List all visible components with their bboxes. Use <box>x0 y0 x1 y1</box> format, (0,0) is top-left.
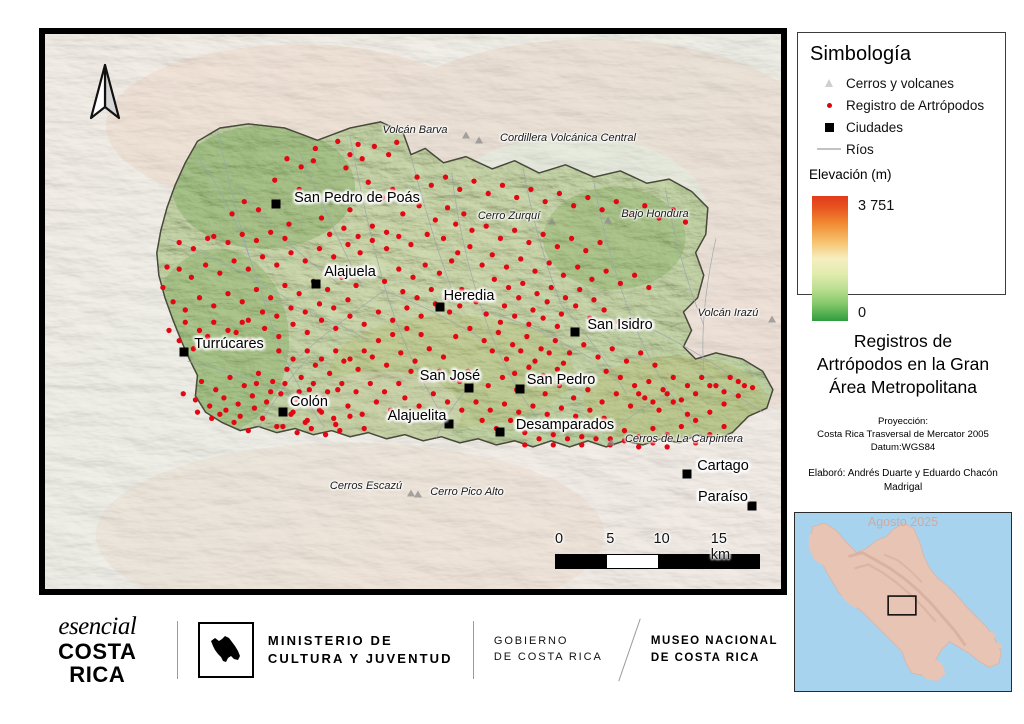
legend-item-label: Cerros y volcanes <box>846 76 954 91</box>
map-title: Registros de Artrópodos en la Gran Área … <box>792 330 1014 398</box>
logo-divider <box>473 621 474 679</box>
legend-item-cerros: Cerros y volcanes <box>812 72 995 94</box>
legend-item-label: Registro de Artrópodos <box>846 98 984 113</box>
legend-title: Simbología <box>810 43 995 66</box>
logo-slash-divider <box>603 617 651 683</box>
author-credit: Elaboró: Andrés Duarte y Eduardo Chacón … <box>792 467 1014 494</box>
esencial-rica-text: RICA <box>38 664 157 687</box>
peak-triangle-icon <box>607 439 615 446</box>
city-marker-desamparados <box>496 428 505 437</box>
museo-nacional-logo: MUSEO NACIONAL DE COSTA RICA <box>651 633 778 666</box>
legend-item-registros: Registro de Artrópodos <box>812 94 995 116</box>
museo-line1: MUSEO NACIONAL <box>651 633 778 650</box>
city-marker-cartago <box>683 470 692 479</box>
datum-value: Datum:WGS84 <box>792 442 1014 455</box>
scale-tick-label: 15 km <box>711 531 744 563</box>
museo-line2: DE COSTA RICA <box>651 650 778 667</box>
author-line1: Elaboró: Andrés Duarte y Eduardo Chacón <box>792 467 1014 481</box>
gobierno-costa-rica-logo: GOBIERNO DE COSTA RICA <box>494 634 603 666</box>
city-marker-paraíso <box>748 502 757 511</box>
author-line2: Madrigal <box>792 481 1014 495</box>
city-marker-alajuela <box>312 280 321 289</box>
north-arrow-icon <box>85 62 125 124</box>
gobierno-line2: DE COSTA RICA <box>494 650 603 666</box>
scale-bar-segment <box>658 555 709 568</box>
elevation-legend-title: Elevación (m) <box>809 167 995 182</box>
costa-rica-silhouette-icon <box>198 622 254 678</box>
logo-divider <box>177 621 178 679</box>
projection-label: Proyección: <box>792 416 1014 429</box>
ministerio-line1: MINISTERIO DE <box>268 632 453 650</box>
legend-item-ciudades: Ciudades <box>812 116 995 138</box>
projection-info: Proyección: Costa Rica Trasversal de Mer… <box>792 416 1014 455</box>
scale-tick-label: 0 <box>555 531 563 547</box>
city-marker-colón <box>279 408 288 417</box>
triangle-outline-icon <box>812 79 846 87</box>
black-square-icon <box>812 123 846 132</box>
elevation-colorbar <box>812 196 848 321</box>
city-marker-san-josé <box>465 384 474 393</box>
elevation-colorbar-labels: 3 751 0 <box>858 196 938 321</box>
scale-bar-segment <box>607 555 658 568</box>
city-marker-san-isidro <box>571 328 580 337</box>
gobierno-line1: GOBIERNO <box>494 634 603 650</box>
inset-costa-rica-shape <box>795 513 1011 691</box>
peak-triangle-icon <box>475 137 483 144</box>
peak-triangle-icon <box>768 316 776 323</box>
peak-triangle-icon <box>462 132 470 139</box>
legend-item-label: Ríos <box>846 142 874 157</box>
elevation-min-label: 0 <box>858 305 866 321</box>
city-marker-san-pedro <box>516 385 525 394</box>
inset-locator-map[interactable] <box>794 512 1012 692</box>
peak-triangle-icon <box>414 491 422 498</box>
scale-bar: 051015 km <box>555 531 760 569</box>
esencial-script-text: esencial <box>38 614 157 639</box>
footer-logo-bar: esencial COSTA RICA MINISTERIO DE CULTUR… <box>38 600 778 700</box>
ministerio-text: MINISTERIO DE CULTURA Y JUVENTUD <box>268 632 453 668</box>
map-raster <box>45 34 781 589</box>
red-dot-icon <box>812 103 846 108</box>
scale-bar-segment <box>556 555 607 568</box>
city-marker-heredia <box>436 303 445 312</box>
legend-item-label: Ciudades <box>846 120 903 135</box>
title-block: Registros de Artrópodos en la Gran Área … <box>792 330 1014 494</box>
map-canvas[interactable] <box>45 34 781 589</box>
elevation-colorbar-group: 3 751 0 <box>812 196 995 321</box>
city-marker-turrúcares <box>180 348 189 357</box>
map-title-line2: Artrópodos en la Gran <box>792 353 1014 376</box>
legend-panel: Simbología Cerros y volcanes Registro de… <box>797 32 1006 295</box>
esencial-costa-text: COSTA <box>38 641 157 664</box>
scale-tick-label: 5 <box>606 531 614 547</box>
ministerio-line2: CULTURA Y JUVENTUD <box>268 650 453 668</box>
peak-triangle-icon <box>548 218 556 225</box>
scale-tick-label: 10 <box>654 531 670 547</box>
elevation-max-label: 3 751 <box>858 198 894 214</box>
map-title-line3: Área Metropolitana <box>792 376 1014 399</box>
map-title-line1: Registros de <box>792 330 1014 353</box>
projection-value: Costa Rica Trasversal de Mercator 2005 <box>792 429 1014 442</box>
ministerio-cultura-logo: MINISTERIO DE CULTURA Y JUVENTUD <box>198 622 453 678</box>
peak-triangle-icon <box>604 217 612 224</box>
city-marker-san-pedro-de-poás <box>272 200 281 209</box>
city-marker-alajuelita <box>445 420 454 429</box>
line-icon <box>812 148 846 150</box>
legend-item-rios: Ríos <box>812 138 995 160</box>
scale-bar-ticks: 051015 km <box>555 531 760 549</box>
esencial-costa-rica-logo: esencial COSTA RICA <box>38 614 157 687</box>
map-frame[interactable]: San Pedro de PoásAlajuelaHerediaSan Isid… <box>39 28 787 595</box>
